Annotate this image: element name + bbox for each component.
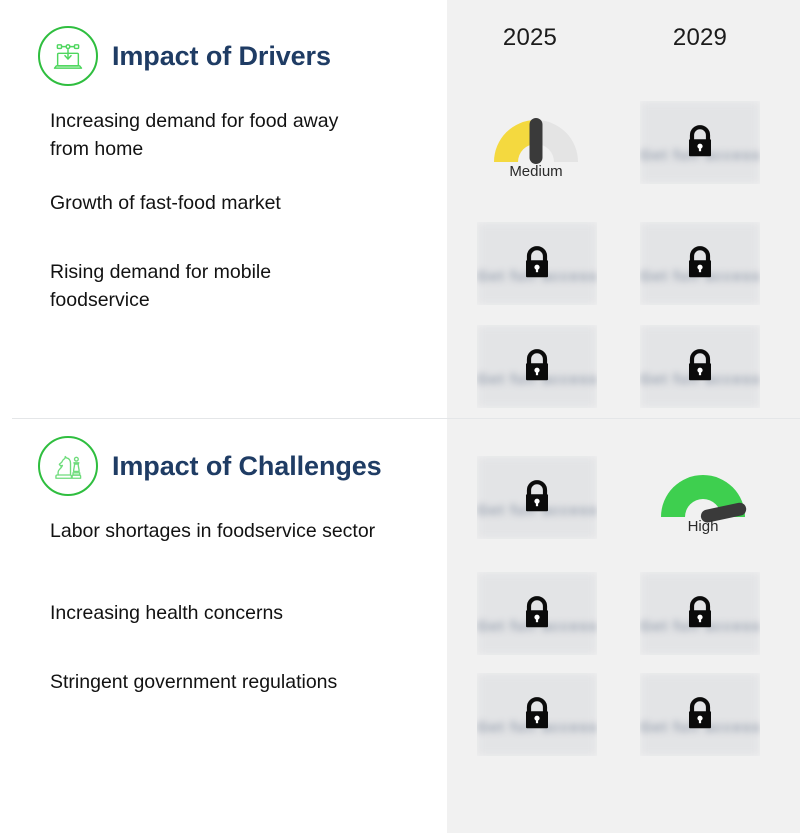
padlock-icon <box>683 346 717 386</box>
padlock-icon <box>520 593 554 633</box>
padlock-icon <box>683 243 717 283</box>
section-title-challenges: Impact of Challenges <box>112 451 382 482</box>
row-label-challenges-2: Stringent government regulations <box>50 669 350 697</box>
row-label-challenges-1: Increasing health concerns <box>50 600 420 628</box>
gauge-drivers-0-2025: Medium <box>476 112 596 190</box>
section-header-drivers: Impact of Drivers <box>38 26 331 86</box>
padlock-icon <box>683 694 717 734</box>
impact-matrix: 2025 2029 Impact of Drivers Increasing d… <box>0 0 800 833</box>
locked-cell-drivers-1-2029[interactable]: Get full access <box>640 222 760 305</box>
locked-cell-challenges-2-2025[interactable]: Get full access <box>477 673 597 756</box>
gauge-dial <box>476 112 596 168</box>
locked-cell-challenges-0-2025[interactable]: Get full access <box>477 456 597 539</box>
gauge-value-drivers-0-2025: Medium <box>476 163 596 180</box>
row-label-challenges-0: Labor shortages in foodservice sector <box>50 518 430 546</box>
padlock-icon <box>683 122 717 162</box>
locked-cell-drivers-0-2029[interactable]: Get full access <box>640 101 760 184</box>
padlock-icon <box>683 593 717 633</box>
padlock-icon <box>520 346 554 386</box>
padlock-icon <box>520 694 554 734</box>
gauge-dial <box>643 467 763 523</box>
row-label-drivers-2: Rising demand for mobile foodservice <box>50 259 370 314</box>
column-header-2029: 2029 <box>640 24 760 52</box>
locked-cell-challenges-1-2025[interactable]: Get full access <box>477 572 597 655</box>
gauge-challenges-0-2029: High <box>643 467 763 545</box>
section-divider <box>12 418 800 419</box>
section-title-drivers: Impact of Drivers <box>112 41 331 72</box>
laptop-download-icon <box>38 26 98 86</box>
gauge-value-challenges-0-2029: High <box>643 518 763 535</box>
locked-cell-challenges-2-2029[interactable]: Get full access <box>640 673 760 756</box>
row-label-drivers-0: Increasing demand for food away from hom… <box>50 108 380 163</box>
locked-cell-drivers-2-2025[interactable]: Get full access <box>477 325 597 408</box>
row-label-drivers-1: Growth of fast-food market <box>50 190 420 218</box>
section-header-challenges: Impact of Challenges <box>38 436 382 496</box>
padlock-icon <box>520 243 554 283</box>
column-header-2025: 2025 <box>470 24 590 52</box>
locked-cell-drivers-2-2029[interactable]: Get full access <box>640 325 760 408</box>
locked-cell-challenges-1-2029[interactable]: Get full access <box>640 572 760 655</box>
chess-pieces-icon <box>38 436 98 496</box>
locked-cell-drivers-1-2025[interactable]: Get full access <box>477 222 597 305</box>
padlock-icon <box>520 477 554 517</box>
